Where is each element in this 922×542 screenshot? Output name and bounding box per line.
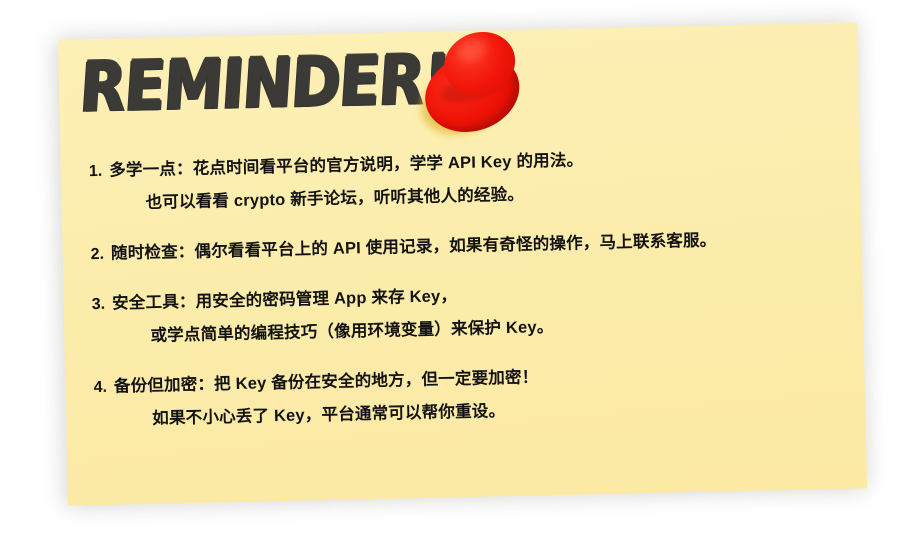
list-item: 4. 备份但加密：把 Key 备份在安全的地方，但一定要加密！ 如果不小心丢了 … <box>93 357 845 430</box>
screenshot-canvas: REMINDER! 1. 多学一点：花点时间看平台的官方说明，学学 API Ke… <box>0 0 922 542</box>
list-item-number: 3. <box>92 296 106 314</box>
list-item-second-line: 也可以看看 crypto 新手论坛，听听其他人的经验。 <box>89 174 840 214</box>
list-item-text: 备份但加密：把 Key 备份在安全的地方，但一定要加密！ <box>114 363 539 396</box>
list-item: 1. 多学一点：花点时间看平台的官方说明，学学 API Key 的用法。 也可以… <box>89 141 841 214</box>
list-item-text: 多学一点：花点时间看平台的官方说明，学学 API Key 的用法。 <box>109 146 584 180</box>
sticky-note: REMINDER! 1. 多学一点：花点时间看平台的官方说明，学学 API Ke… <box>58 22 867 505</box>
list-item-first-line: 2. 随时检查：偶尔看看平台上的 API 使用记录，如果有奇怪的操作，马上联系客… <box>90 224 841 264</box>
reminder-list: 1. 多学一点：花点时间看平台的官方说明，学学 API Key 的用法。 也可以… <box>89 141 846 430</box>
list-item-number: 2. <box>91 246 105 264</box>
pushpin-highlight <box>455 36 490 66</box>
list-item-first-line: 1. 多学一点：花点时间看平台的官方说明，学学 API Key 的用法。 <box>89 141 840 181</box>
list-item-number: 1. <box>89 163 103 181</box>
list-item-second-line: 如果不小心丢了 Key，平台通常可以帮你重设。 <box>94 390 845 430</box>
list-item: 3. 安全工具：用安全的密码管理 App 来存 Key， 或学点简单的编程技巧（… <box>91 274 843 347</box>
list-item-number: 4. <box>93 379 107 397</box>
list-item-first-line: 4. 备份但加密：把 Key 备份在安全的地方，但一定要加密！ <box>93 357 844 397</box>
page-title: REMINDER! <box>78 45 452 122</box>
list-item: 2. 随时检查：偶尔看看平台上的 API 使用记录，如果有奇怪的操作，马上联系客… <box>90 224 841 264</box>
list-item-text: 安全工具：用安全的密码管理 App 来存 Key， <box>112 282 458 314</box>
list-item-second-line: 或学点简单的编程技巧（像用环境变量）来保护 Key。 <box>92 307 843 347</box>
note-inner: REMINDER! 1. 多学一点：花点时间看平台的官方说明，学学 API Ke… <box>58 22 867 505</box>
list-item-text: 随时检查：偶尔看看平台上的 API 使用记录，如果有奇怪的操作，马上联系客服。 <box>111 226 717 263</box>
list-item-first-line: 3. 安全工具：用安全的密码管理 App 来存 Key， <box>91 274 842 314</box>
